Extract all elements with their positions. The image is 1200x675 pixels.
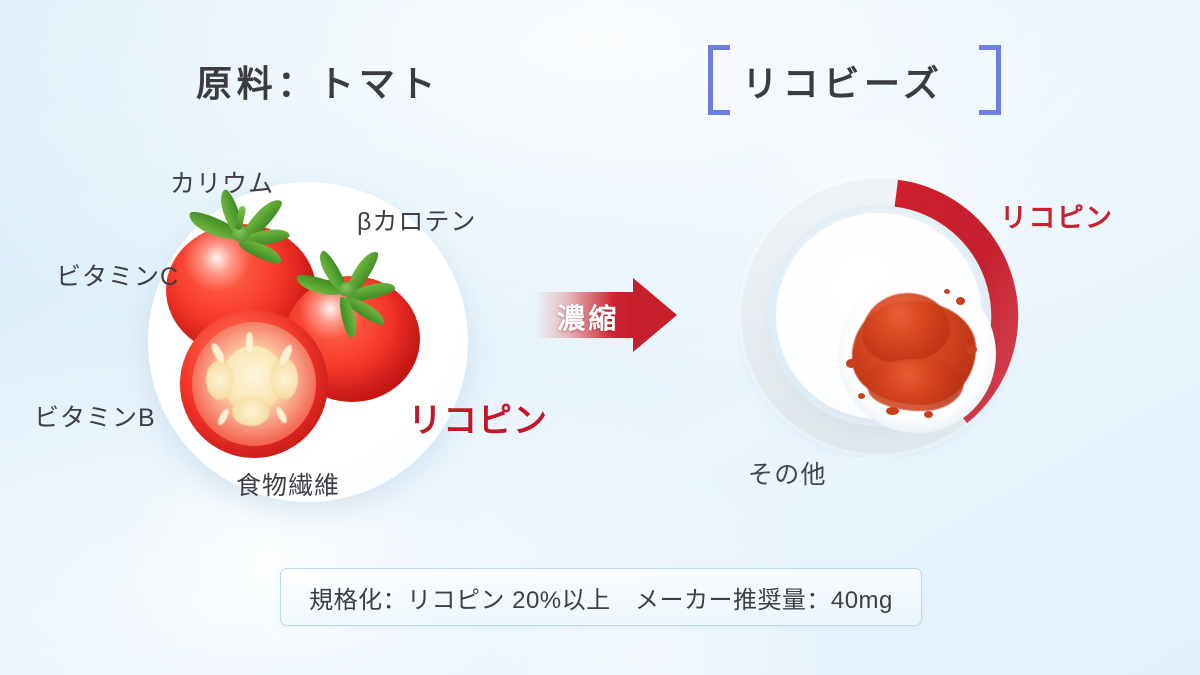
arrow-head-icon <box>633 278 677 352</box>
powder-dish <box>838 275 996 433</box>
concentration-arrow: 濃縮 <box>535 278 675 352</box>
nutrient-label-lycopene: リコピン <box>408 393 548 442</box>
nutrient-label-vitamin-b: ビタミンB <box>34 398 156 434</box>
nutrient-label-vitamin-c: ビタミンC <box>56 257 179 293</box>
arrow-label: 濃縮 <box>557 297 620 337</box>
nutrient-label-beta-carotene: βカロテン <box>357 202 476 238</box>
page-title-product: リコビーズ <box>742 55 944 107</box>
donut-label-other: その他 <box>748 455 827 491</box>
bracket-close-icon <box>979 45 1001 115</box>
page-title-source: 原料：トマト <box>196 55 440 107</box>
bracket-open-icon <box>708 45 730 115</box>
spec-caption-text: 規格化：リコピン 20%以上 メーカー推奨量：40mg <box>309 580 893 615</box>
nutrient-label-potassium: カリウム <box>170 164 274 200</box>
donut-inner-disc <box>776 213 982 419</box>
powder-mound-base <box>868 359 964 411</box>
composition-donut-chart <box>738 175 1020 457</box>
donut-label-lycopene: リコピン <box>1000 196 1113 235</box>
spec-caption-box: 規格化：リコピン 20%以上 メーカー推奨量：40mg <box>280 568 922 626</box>
nutrient-label-dietary-fiber: 食物繊維 <box>236 466 340 502</box>
infographic-canvas: 原料：トマト リコビーズ <box>0 0 1200 675</box>
